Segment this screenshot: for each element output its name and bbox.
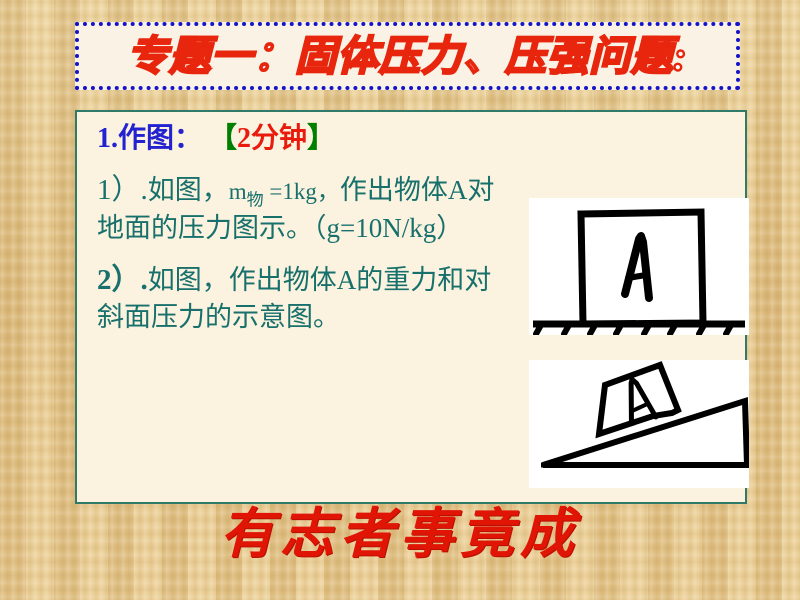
question-1-lead: 如图，	[148, 175, 229, 205]
question-1: 1）.如图，m物 =1kg，作出物体A对地面的压力图示。（g=10N/kg）	[97, 172, 517, 247]
time-limit-badge: 2分钟	[237, 123, 307, 154]
question-1-value: =1kg，	[264, 179, 340, 204]
motivational-slogan: 有志者事竟成	[0, 505, 800, 564]
block-label-A-crossbar	[628, 275, 646, 278]
question-1-variable: m	[229, 179, 247, 204]
title-box: 专题一：固体压力、压强问题:	[75, 22, 740, 90]
question-2-marker: 2）.	[97, 264, 148, 296]
diagram-block-on-incline	[529, 360, 749, 488]
slide-canvas: 专题一：固体压力、压强问题: 1.作图： 【2分钟】 1）.如图，m物 =1kg…	[0, 0, 800, 600]
block-on-ground-drawing	[529, 198, 749, 335]
question-text-column: 1.作图： 【2分钟】 1）.如图，m物 =1kg，作出物体A对地面的压力图示。…	[97, 120, 517, 351]
block-label-A	[625, 236, 649, 298]
bracket-open-icon: 【	[209, 123, 237, 154]
diagram-block-on-ground	[529, 198, 749, 335]
task-heading: 1.作图： 【2分钟】	[97, 120, 517, 158]
page-title: 专题一：固体压力、压强问题:	[127, 36, 688, 77]
task-label: 作图：	[118, 123, 202, 154]
question-2: 2）.如图，作出物体A的重力和对斜面压力的示意图。	[97, 262, 517, 335]
content-panel: 1.作图： 【2分钟】 1）.如图，m物 =1kg，作出物体A对地面的压力图示。…	[75, 110, 747, 504]
bracket-close-icon: 】	[307, 123, 335, 154]
task-number: 1.	[97, 123, 118, 154]
question-1-variable-subscript: 物	[247, 190, 264, 209]
block-on-incline-drawing	[529, 360, 749, 488]
question-2-body: 如图，作出物体A的重力和对斜面压力的示意图。	[97, 265, 491, 332]
question-1-marker: 1）.	[97, 174, 148, 206]
